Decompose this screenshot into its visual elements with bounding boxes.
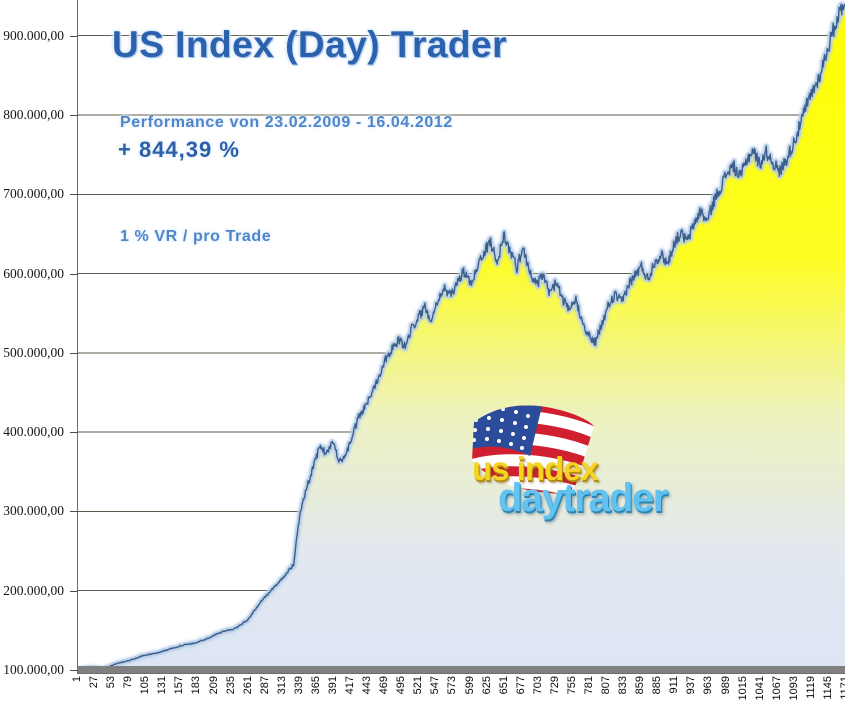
x-axis-tick-label: 781	[584, 676, 595, 694]
x-axis-tick-label: 287	[260, 676, 271, 694]
watermark-logo: us index daytrader	[460, 398, 770, 523]
x-axis-tick-label: 417	[345, 676, 356, 694]
x-axis-tick-label: 989	[721, 676, 732, 694]
x-axis-tick-label: 911	[669, 676, 680, 694]
y-axis-tick-label: 700.000,00	[3, 186, 64, 202]
x-axis-tick-label: 79	[123, 676, 134, 688]
y-axis-tick	[70, 432, 78, 433]
y-axis-tick-label: 500.000,00	[3, 345, 64, 361]
watermark-line2: daytrader	[498, 476, 667, 521]
x-axis-tick-label: 521	[413, 676, 424, 694]
x-axis-tick-label: 963	[703, 676, 714, 694]
x-axis-line	[77, 673, 845, 674]
y-axis-tick-label: 900.000,00	[3, 28, 64, 44]
x-axis-tick-label: 703	[533, 676, 544, 694]
y-axis-tick	[70, 511, 78, 512]
x-axis-tick-label: 833	[618, 676, 629, 694]
plot-area	[77, 0, 845, 674]
x-axis-tick-label: 677	[516, 676, 527, 694]
x-axis-tick-label: 391	[328, 676, 339, 694]
x-axis-tick-label: 1015	[738, 676, 749, 700]
performance-value-label: + 844,39 %	[118, 137, 240, 163]
x-axis-tick-label: 625	[482, 676, 493, 694]
x-axis-tick-label: 1145	[823, 676, 834, 700]
x-axis-tick-label: 1171	[840, 676, 845, 700]
x-axis-tick-label: 1067	[772, 676, 783, 700]
y-axis-tick	[70, 274, 78, 275]
x-axis-tick-label: 495	[396, 676, 407, 694]
x-axis-tick-label: 1119	[806, 676, 817, 699]
x-axis-tick-label: 885	[652, 676, 663, 694]
y-axis-tick-label: 100.000,00	[3, 662, 64, 678]
y-axis-tick	[70, 591, 78, 592]
x-axis-tick-label: 27	[89, 676, 100, 688]
y-axis-tick	[70, 670, 78, 671]
x-axis-tick-label: 1041	[755, 676, 766, 700]
x-axis-tick-label: 157	[174, 676, 185, 694]
y-axis-tick-label: 800.000,00	[3, 107, 64, 123]
x-axis-tick-label: 651	[499, 676, 510, 694]
x-axis-tick-label: 859	[635, 676, 646, 694]
x-axis-tick-label: 469	[379, 676, 390, 694]
y-axis-tick-label: 200.000,00	[3, 583, 64, 599]
x-axis-tick-label: 573	[447, 676, 458, 694]
x-axis-tick-label: 131	[157, 676, 168, 694]
x-axis-tick-label: 339	[294, 676, 305, 694]
x-axis-tick-label: 807	[601, 676, 612, 694]
y-axis-tick	[70, 115, 78, 116]
x-axis-tick-label: 209	[209, 676, 220, 694]
x-axis-tick-label: 937	[686, 676, 697, 694]
y-axis-tick-label: 400.000,00	[3, 424, 64, 440]
x-axis-tick-label: 599	[465, 676, 476, 694]
chart-root: 900.000,00800.000,00700.000,00600.000,00…	[0, 0, 845, 714]
x-axis-tick-label: 53	[106, 676, 117, 688]
risk-note-label: 1 % VR / pro Trade	[120, 228, 271, 246]
y-axis-tick-label: 600.000,00	[3, 266, 64, 282]
y-axis-tick-label: 300.000,00	[3, 503, 64, 519]
x-axis-tick-label: 1093	[789, 676, 800, 700]
x-axis-tick-label: 1	[72, 676, 83, 682]
x-axis-tick-label: 547	[430, 676, 441, 694]
x-axis-labels: 1275379105131157183209235261287313339365…	[77, 676, 845, 714]
x-axis-tick-label: 755	[567, 676, 578, 694]
y-axis-line	[77, 0, 78, 674]
y-axis-tick	[70, 194, 78, 195]
y-axis-labels: 900.000,00800.000,00700.000,00600.000,00…	[0, 0, 70, 714]
equity-curve-svg	[77, 0, 845, 674]
x-axis-tick-label: 235	[226, 676, 237, 694]
performance-range-label: Performance von 23.02.2009 - 16.04.2012	[120, 114, 453, 132]
x-axis-tick-label: 729	[550, 676, 561, 694]
x-axis-tick-label: 443	[362, 676, 373, 694]
y-axis-tick	[70, 36, 78, 37]
x-axis-tick-label: 261	[243, 676, 254, 694]
x-axis-tick-label: 105	[140, 676, 151, 694]
x-axis-tick-label: 313	[277, 676, 288, 694]
x-axis-tick-label: 183	[191, 676, 202, 694]
area-fill	[77, 4, 845, 670]
y-axis-tick	[70, 353, 78, 354]
x-axis-tick-label: 365	[311, 676, 322, 694]
page-title: US Index (Day) Trader	[112, 24, 507, 66]
